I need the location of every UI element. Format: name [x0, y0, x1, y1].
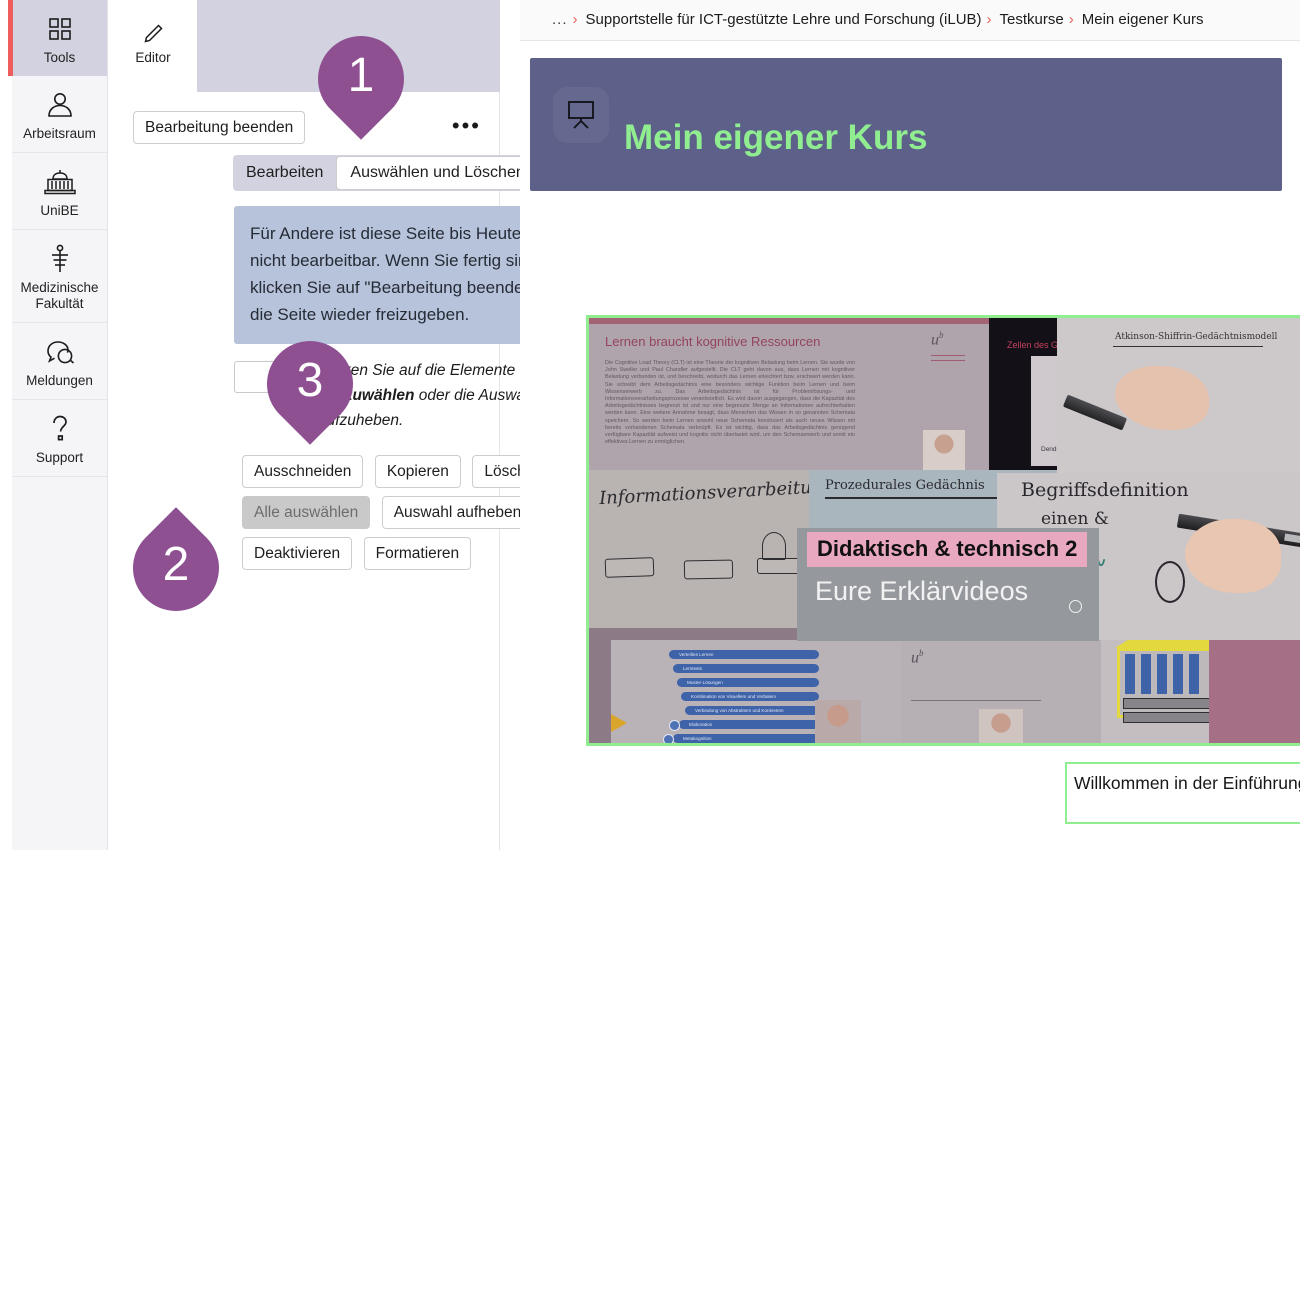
- bar-item: Verteiltes Lernen: [669, 650, 819, 659]
- sidebar-item-label: Meldungen: [16, 373, 103, 389]
- hand-holding-pen: [1115, 366, 1209, 430]
- sketch-box: [757, 558, 801, 574]
- bar-item: Elaboration: [679, 720, 819, 729]
- question-mark-icon: [16, 412, 103, 446]
- callout-pin-2-number: 2: [133, 525, 219, 611]
- select-all-button[interactable]: Alle auswählen: [242, 496, 370, 529]
- callout-pin-1: 1: [300, 18, 422, 140]
- bar-item: Metakognition: [673, 734, 819, 743]
- sidebar-item-unibe[interactable]: UniBE: [12, 153, 107, 230]
- sketch-ellipse: [1155, 561, 1185, 603]
- person-icon: [16, 88, 103, 122]
- slide-body-text: Die Cognitive Load Theory (CLT) ist eine…: [605, 360, 855, 446]
- sidebar-item-medizinische-fakultaet[interactable]: Medizinische Fakultät: [12, 230, 107, 323]
- divider: [911, 700, 1041, 701]
- callout-pin-3: 3: [249, 323, 371, 445]
- smiley-icon: [1069, 600, 1082, 613]
- tab-editor-label: Editor: [109, 50, 197, 65]
- sidebar-nav: Tools Arbeitsraum UniBE: [12, 0, 108, 850]
- callout-pin-3-number: 3: [267, 341, 353, 427]
- pencil-icon: [109, 22, 197, 50]
- sketch-box: [605, 557, 655, 578]
- page-content-area: ...›Supportstelle für ICT-gestützte Lehr…: [520, 0, 1300, 850]
- sidebar-item-tools[interactable]: Tools: [12, 0, 107, 76]
- breadcrumb-ellipsis[interactable]: ...: [552, 11, 568, 28]
- sketch-pillar: [1173, 654, 1183, 694]
- end-editing-button[interactable]: Bearbeitung beenden: [133, 111, 305, 144]
- sketch-head-profile: [762, 532, 786, 560]
- breadcrumb-separator-icon: ›: [573, 11, 578, 28]
- mode-option-bearbeiten[interactable]: Bearbeiten: [233, 155, 336, 191]
- kebab-menu-icon[interactable]: •••: [452, 116, 481, 136]
- collage-slide-cognitive-load: Lernen braucht kognitive Ressourcen Die …: [589, 318, 989, 470]
- yellow-arrow-tail: [611, 718, 615, 728]
- handwriting-begriffsdefinition: Begriffsdefinition: [1021, 479, 1189, 501]
- sidebar-item-label: Support: [16, 450, 103, 466]
- hint-tail: heben.: [356, 412, 403, 429]
- handwriting-informationsverarbeitung: Informationsverarbeitung: [599, 476, 809, 509]
- webcam-thumbnail: [815, 700, 861, 746]
- unibe-logo: ub: [911, 648, 924, 667]
- sketch-slab: [1123, 698, 1215, 709]
- breadcrumb-separator-icon: ›: [1069, 11, 1074, 28]
- webcam-thumbnail: [979, 709, 1023, 746]
- handwriting-einen-und: einen &: [1041, 509, 1109, 529]
- underline: [1113, 346, 1263, 347]
- sidebar-item-label: Tools: [16, 50, 103, 66]
- sidebar-item-arbeitsraum[interactable]: Arbeitsraum: [12, 76, 107, 153]
- breadcrumb-item-ilub[interactable]: Supportstelle für ICT-gestützte Lehre un…: [586, 11, 982, 28]
- cut-button[interactable]: Ausschneiden: [242, 455, 363, 488]
- bullet-dot: [663, 734, 674, 745]
- media-image-block[interactable]: Lernen braucht kognitive Ressourcen Die …: [586, 315, 1300, 746]
- breadcrumb-separator-icon: ›: [987, 11, 992, 28]
- chat-bubbles-icon: [16, 335, 103, 369]
- sketch-slab: [1123, 712, 1215, 723]
- sketch-box: [684, 560, 733, 580]
- page-text-block[interactable]: Willkommen in der Einführung zum Seitene…: [1065, 762, 1300, 824]
- bar-item: Kombination von Visuellem und Verbalem: [681, 692, 819, 701]
- tab-editor[interactable]: Editor: [109, 0, 197, 92]
- course-header-banner: Mein eigener Kurs: [530, 58, 1282, 191]
- sketch-pillar: [1189, 654, 1199, 694]
- sketch-pillar: [1157, 654, 1167, 694]
- clear-selection-button[interactable]: Auswahl aufheben: [382, 496, 534, 529]
- overlay-pink-title: Didaktisch & technisch 2: [807, 532, 1087, 567]
- bullet-dot: [669, 720, 680, 731]
- sketch-pillar: [1125, 654, 1135, 694]
- sidebar-item-label: Arbeitsraum: [16, 126, 103, 142]
- copy-button[interactable]: Kopieren: [375, 455, 461, 488]
- handwriting-atkinson-shiffrin: Atkinson-Shiffrin-Gedächtnismodell: [1115, 332, 1277, 342]
- unibe-logo: ub: [931, 330, 965, 361]
- callout-pin-2: 2: [115, 507, 237, 629]
- breadcrumb: ...›Supportstelle für ICT-gestützte Lehr…: [520, 0, 1300, 41]
- bar-item: Verbindung von Abstraktem und Konkretem: [685, 706, 819, 715]
- bar-item: Muster-Lösungen: [677, 678, 819, 687]
- caduceus-icon: [16, 242, 103, 276]
- breadcrumb-item-current: Mein eigener Kurs: [1082, 11, 1204, 28]
- collage-whiteboard-informationsverarbeitung: Informationsverarbeitung: [589, 470, 809, 628]
- sidebar-item-label: Medizinische Fakultät: [16, 280, 103, 312]
- handwriting-prozedurales-gedaechtnis: Prozedurales Gedächnis: [825, 478, 985, 493]
- bar-item: Lerntests: [673, 664, 819, 673]
- university-building-icon: [16, 165, 103, 199]
- breadcrumb-item-testkurse[interactable]: Testkurse: [1000, 11, 1064, 28]
- sidebar-item-support[interactable]: Support: [12, 400, 107, 477]
- collage-title-overlay: Didaktisch & technisch 2 Eure Erklärvide…: [797, 528, 1099, 641]
- grid-icon: [16, 12, 103, 46]
- overlay-white-subtitle: Eure Erklärvideos: [815, 576, 1028, 607]
- sketch-pillar: [1141, 654, 1151, 694]
- slide-title: Lernen braucht kognitive Ressourcen: [605, 334, 820, 349]
- hand-holding-pen: [1185, 519, 1281, 593]
- sidebar-item-meldungen[interactable]: Meldungen: [12, 323, 107, 400]
- callout-pin-1-number: 1: [318, 36, 404, 122]
- sidebar-item-label: UniBE: [16, 203, 103, 219]
- format-button[interactable]: Formatieren: [364, 537, 472, 570]
- editor-tab-strip: Editor: [109, 0, 500, 92]
- mode-switch: Bearbeiten Auswählen und Löschen: [233, 155, 540, 191]
- presentation-board-icon: [553, 87, 609, 143]
- collage-slide-unibe: ub: [901, 640, 1101, 746]
- page-title: Mein eigener Kurs: [624, 110, 927, 166]
- webcam-thumbnail: [923, 430, 965, 470]
- slide-accent-bar: [589, 318, 989, 324]
- editor-toolbar-row: Bearbeitung beenden •••: [133, 111, 483, 143]
- deactivate-button[interactable]: Deaktivieren: [242, 537, 352, 570]
- mode-option-auswaehlen-und-loeschen[interactable]: Auswählen und Löschen: [336, 156, 538, 190]
- editor-shell: Tools Arbeitsraum UniBE: [0, 0, 520, 850]
